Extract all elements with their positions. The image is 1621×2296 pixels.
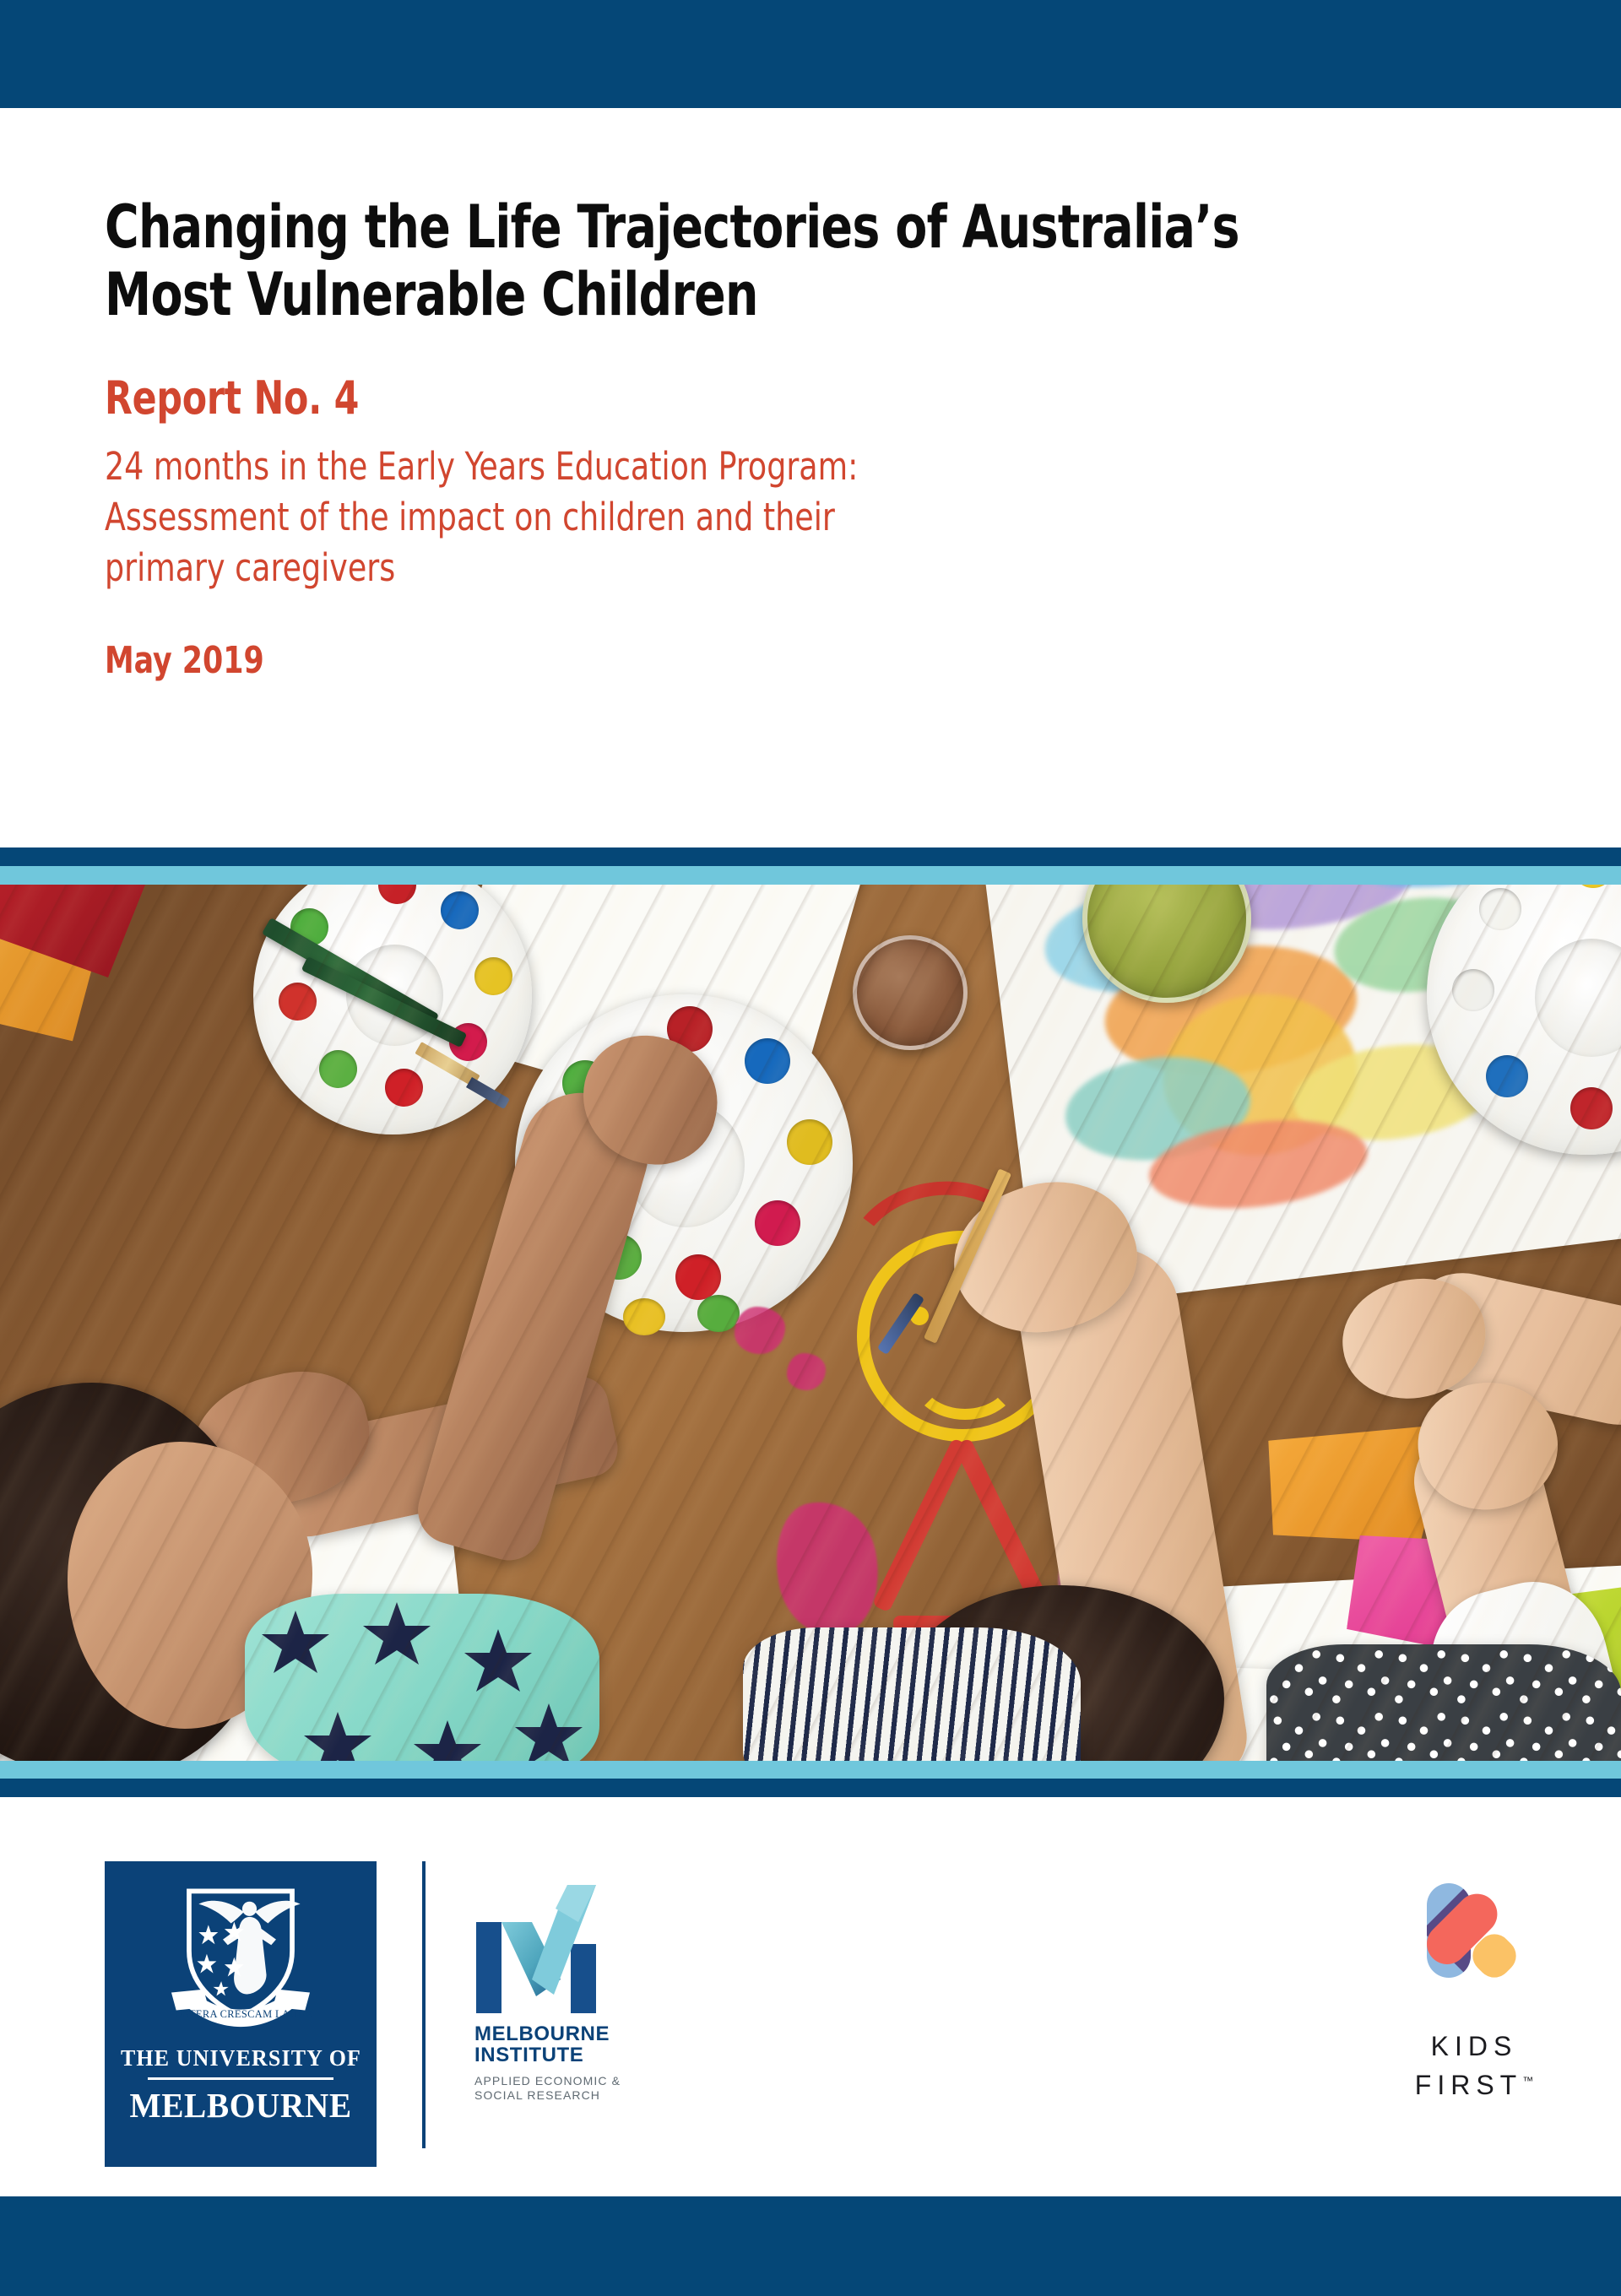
university-logo-line2: MELBOURNE	[129, 2085, 351, 2125]
photo-child-shirt	[245, 1594, 599, 1761]
institute-logo-line1: MELBOURNE	[474, 2023, 643, 2044]
top-blue-band	[0, 0, 1621, 108]
photo-drawing-paint-blob	[787, 1353, 826, 1390]
institute-tagline-line2: SOCIAL RESEARCH	[474, 2088, 643, 2103]
report-subtitle: 24 months in the Early Years Education P…	[105, 441, 956, 593]
kids-first-line2-text: FIRST	[1415, 2070, 1522, 2100]
kids-first-wordmark: KIDS FIRST™	[1381, 2027, 1567, 2105]
report-number: Report No. 4	[105, 373, 1323, 423]
photo-bottom-light-band	[0, 1761, 1621, 1779]
university-logo-line1: THE UNIVERSITY OF	[120, 2045, 361, 2071]
institute-logo-name: MELBOURNE INSTITUTE	[474, 2023, 643, 2066]
photo-water-cup	[853, 935, 968, 1050]
document-cover-page: Changing the Life Trajectories of Austra…	[0, 0, 1621, 2296]
university-of-melbourne-logo: POSTERA CRESCAM LAUDE THE UNIVERSITY OF …	[105, 1861, 377, 2167]
photo-top-light-band	[0, 866, 1621, 885]
photo-child-skirt	[1266, 1644, 1621, 1761]
melbourne-crest-icon: POSTERA CRESCAM LAUDE	[160, 1880, 322, 2037]
logo-divider	[422, 1861, 426, 2148]
kids-first-logo: KIDS FIRST™	[1381, 1878, 1567, 2131]
title-block: Changing the Life Trajectories of Austra…	[105, 194, 1489, 681]
kids-first-mark-icon	[1422, 1878, 1526, 1983]
university-logo-rule	[148, 2077, 333, 2080]
photo-child-shirt	[743, 1627, 1081, 1761]
photo-top-dark-band	[0, 847, 1621, 866]
kids-first-line1: KIDS	[1381, 2027, 1567, 2066]
photo-drawing-smile	[910, 1332, 1020, 1420]
kids-first-line2: FIRST™	[1381, 2066, 1567, 2104]
cover-photo	[0, 885, 1621, 1761]
photo-drawing-paint-blob	[735, 1307, 785, 1354]
melbourne-institute-logo: MELBOURNE INSTITUTE APPLIED ECONOMIC & S…	[466, 1885, 643, 2138]
bottom-blue-band	[0, 2196, 1621, 2296]
report-date: May 2019	[105, 641, 1323, 681]
melbourne-institute-m-icon	[473, 1885, 599, 2013]
page-title: Changing the Life Trajectories of Austra…	[105, 194, 1323, 329]
institute-logo-tagline: APPLIED ECONOMIC & SOCIAL RESEARCH	[474, 2074, 643, 2103]
institute-logo-line2: INSTITUTE	[474, 2044, 643, 2066]
institute-tagline-line1: APPLIED ECONOMIC &	[474, 2074, 643, 2088]
photo-bottom-dark-band	[0, 1779, 1621, 1797]
logo-row: POSTERA CRESCAM LAUDE THE UNIVERSITY OF …	[0, 1797, 1621, 2196]
svg-text:POSTERA CRESCAM LAUDE: POSTERA CRESCAM LAUDE	[169, 2008, 312, 2020]
trademark-symbol: ™	[1522, 2075, 1533, 2088]
star-pattern-icon	[245, 1594, 599, 1761]
